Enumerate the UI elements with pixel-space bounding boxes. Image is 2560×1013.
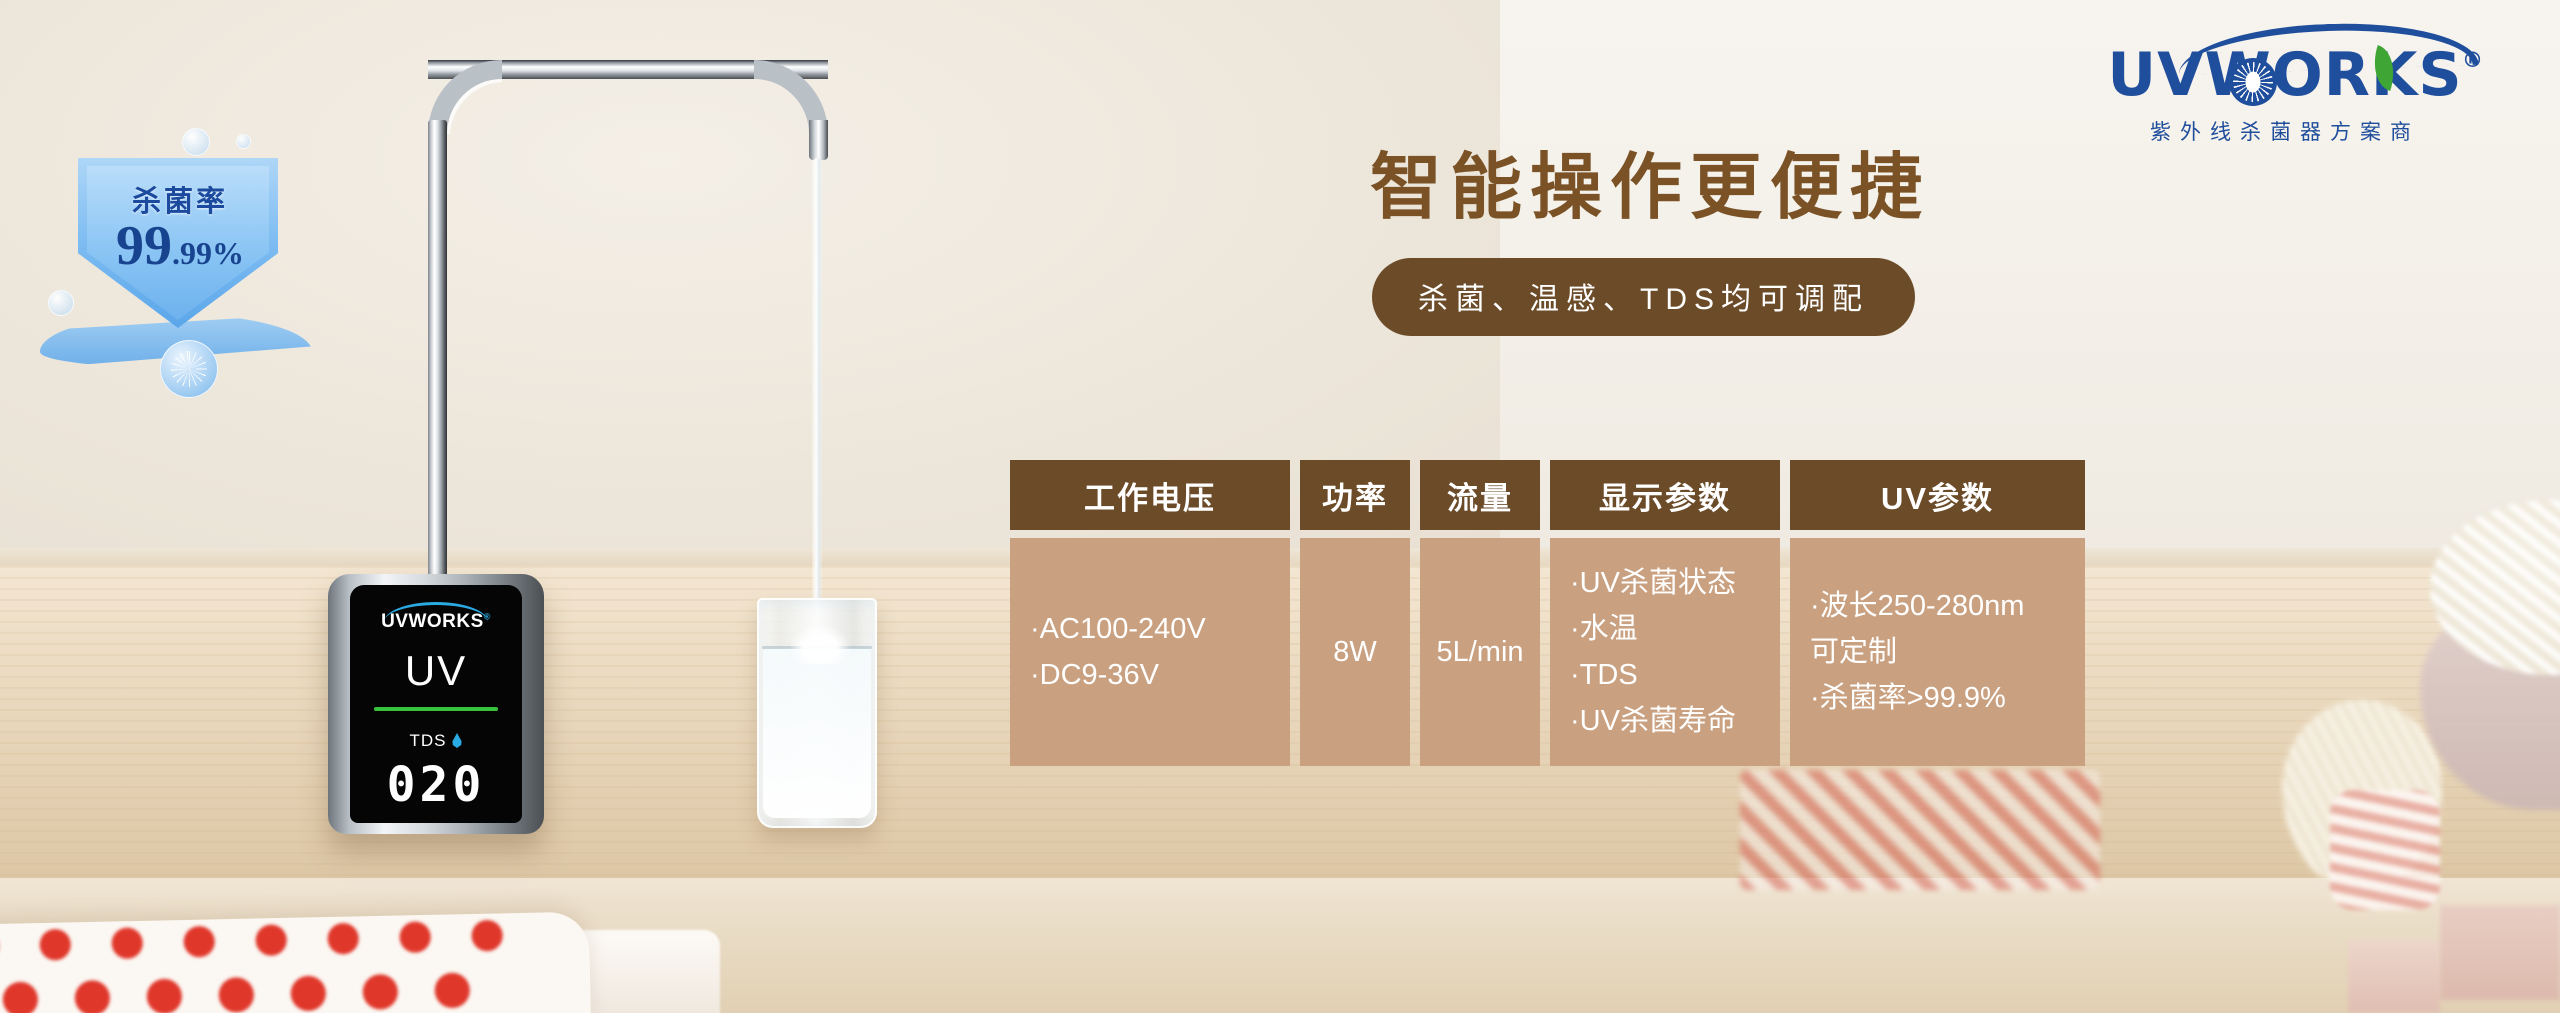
feature-pill: 杀菌、温感、TDS均可调配: [1372, 258, 1915, 336]
uv-sterilizer-device: UVWORKS® UV TDS 020: [328, 574, 544, 834]
device-brand-logo: UVWORKS®: [350, 611, 522, 633]
spec-column: 流量5L/min: [1420, 460, 1540, 766]
brand-logo: UVWORKS ® 紫外线杀菌器方案商: [2090, 40, 2480, 146]
spec-line: ·UV杀菌寿命: [1570, 703, 1736, 739]
water-stream: [812, 158, 822, 608]
spec-column: 功率8W: [1300, 460, 1410, 766]
spec-column: 显示参数·UV杀菌状态·水温·TDS·UV杀菌寿命: [1550, 460, 1780, 766]
red-mat-prop: [1740, 770, 2100, 890]
spec-column: UV参数·波长250-280nm可定制·杀菌率>99.9%: [1790, 460, 2085, 766]
device-tds-label: TDS: [410, 731, 447, 750]
spec-column-body: ·UV杀菌状态·水温·TDS·UV杀菌寿命: [1550, 538, 1780, 766]
bubble-icon-3: [236, 134, 251, 149]
brand-logo-wordmark: UVWORKS ®: [2090, 40, 2480, 110]
spec-column-header: 工作电压: [1010, 460, 1290, 530]
spec-column-header: 功率: [1300, 460, 1410, 530]
wood-block-prop-1: [2440, 905, 2560, 1000]
device-display-screen: UVWORKS® UV TDS 020: [350, 585, 522, 823]
faucet-spout: [809, 120, 828, 160]
spec-column-header: UV参数: [1790, 460, 2085, 530]
striped-cloth-prop: [2330, 790, 2440, 910]
spec-column-body: 8W: [1300, 538, 1410, 766]
spec-column-body: 5L/min: [1420, 538, 1540, 766]
spec-column: 工作电压·AC100-240V·DC9-36V: [1010, 460, 1290, 766]
device-tds-value: 020: [350, 757, 522, 813]
water-glass: [757, 598, 877, 828]
spec-line: 可定制: [1810, 634, 1897, 670]
spec-column-body: ·AC100-240V·DC9-36V: [1010, 538, 1290, 766]
wood-block-prop-2: [2348, 940, 2440, 1013]
spec-line: 8W: [1333, 634, 1377, 670]
glass-water-fill: [763, 648, 871, 818]
device-logo-arc-icon: [384, 602, 488, 622]
device-mode-label: UV: [350, 647, 522, 695]
spec-line: ·UV杀菌状态: [1570, 565, 1736, 601]
spec-line: ·AC100-240V: [1030, 611, 1206, 647]
faucet-column: [428, 120, 447, 590]
bubble-icon-2: [48, 290, 74, 316]
badge-value: 99.99%: [30, 214, 330, 278]
spec-table: 工作电压·AC100-240V·DC9-36V功率8W流量5L/min显示参数·…: [1010, 460, 2085, 766]
registered-trademark-icon: ®: [2462, 48, 2484, 72]
sterilization-rate-badge: 杀菌率 99.99%: [30, 120, 330, 340]
spec-column-header: 流量: [1420, 460, 1540, 530]
device-tds-row: TDS: [350, 731, 522, 751]
spec-line: 5L/min: [1436, 634, 1523, 670]
spec-line: ·TDS: [1570, 657, 1638, 693]
glass-splash: [789, 624, 851, 664]
spec-column-body: ·波长250-280nm可定制·杀菌率>99.9%: [1790, 538, 2085, 766]
page-title: 智能操作更便捷: [1370, 128, 1930, 233]
spec-line: ·杀菌率>99.9%: [1810, 680, 2006, 716]
spec-line: ·水温: [1570, 611, 1638, 647]
brand-logo-subtitle: 紫外线杀菌器方案商: [2090, 116, 2480, 146]
device-status-bar: [374, 707, 498, 711]
spec-column-header: 显示参数: [1550, 460, 1780, 530]
badge-value-minor: .99%: [172, 235, 244, 271]
water-drop-icon: [452, 733, 463, 748]
spec-line: ·波长250-280nm: [1810, 588, 2024, 624]
sun-burst-icon: [2229, 58, 2277, 106]
polka-dot-towel: [0, 912, 591, 1013]
spec-line: ·DC9-36V: [1030, 657, 1159, 693]
badge-value-major: 99: [116, 215, 172, 277]
bubble-icon-1: [182, 128, 210, 156]
germ-icon: [160, 340, 218, 398]
